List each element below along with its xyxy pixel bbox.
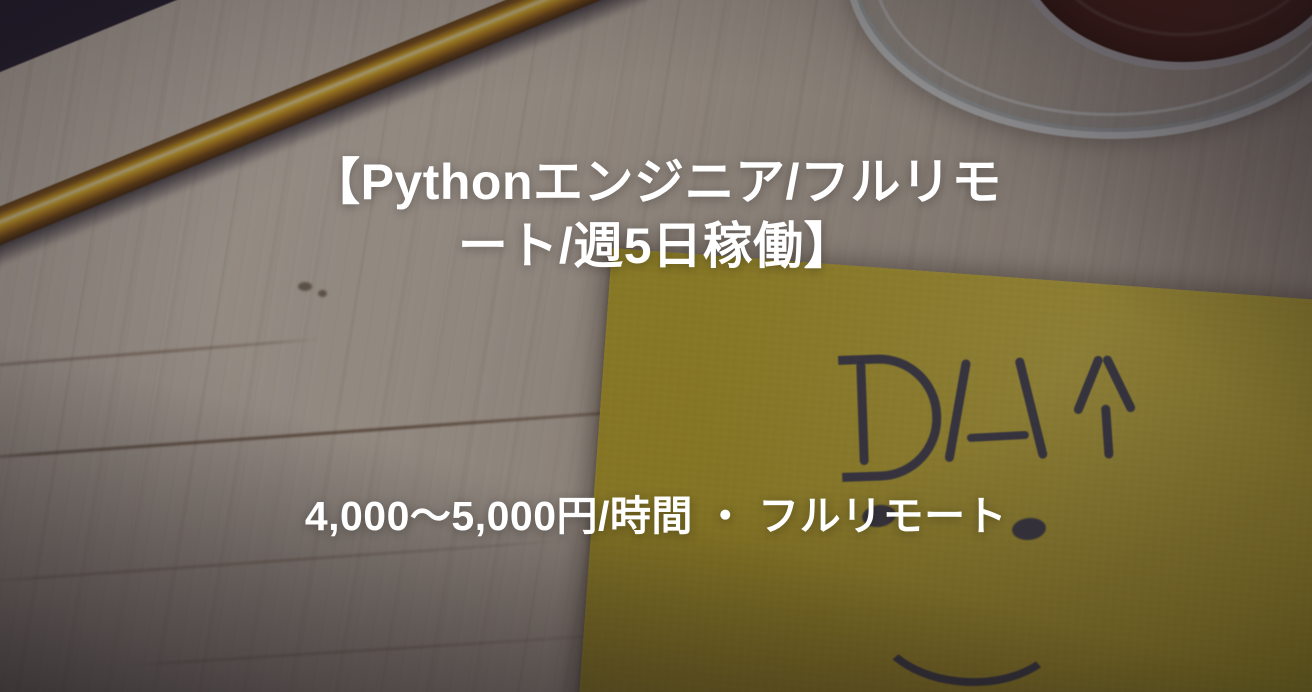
page-subtitle: 4,000〜5,000円/時間 ・ フルリモート — [305, 492, 1007, 541]
hero-text-block: 【Pythonエンジニア/フルリモート/週5日稼働】 4,000〜5,000円/… — [0, 0, 1312, 692]
hero-banner: 【Pythonエンジニア/フルリモート/週5日稼働】 4,000〜5,000円/… — [0, 0, 1312, 692]
page-title: 【Pythonエンジニア/フルリモート/週5日稼働】 — [306, 150, 1006, 278]
